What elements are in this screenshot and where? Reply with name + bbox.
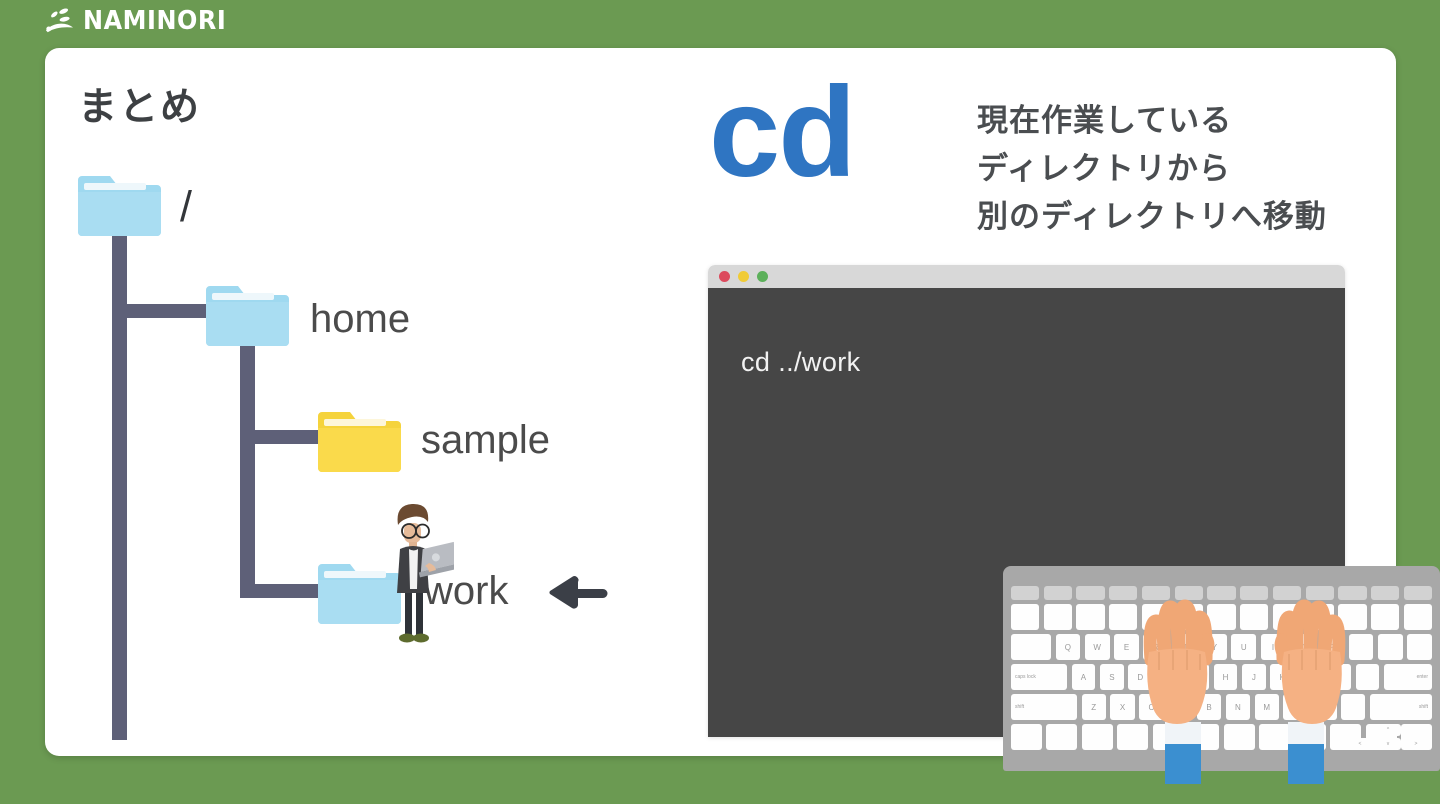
- close-button[interactable]: [719, 271, 730, 282]
- key-blank[interactable]: [1082, 724, 1113, 750]
- description-line-1: 現在作業している: [977, 97, 1397, 145]
- key-blank[interactable]: [1044, 586, 1072, 600]
- key-blank[interactable]: [1011, 724, 1042, 750]
- key-blank[interactable]: [1371, 604, 1399, 630]
- arrow-left-icon: [543, 573, 609, 611]
- command-name: cd: [709, 69, 854, 197]
- key-blank[interactable]: [1407, 634, 1432, 660]
- slide-root: NAMINORI まとめ: [0, 0, 1440, 804]
- key-blank[interactable]: [1046, 724, 1077, 750]
- folder-icon: [78, 172, 161, 236]
- key-blank[interactable]: [1404, 586, 1432, 600]
- key-s[interactable]: S: [1100, 664, 1124, 690]
- description-line-3: 別のディレクトリへ移動: [977, 193, 1397, 241]
- key-blank[interactable]: [1044, 604, 1072, 630]
- key-blank[interactable]: [1109, 604, 1137, 630]
- minimize-button[interactable]: [738, 271, 749, 282]
- folder-label-home: home: [310, 297, 410, 342]
- brand: NAMINORI: [44, 6, 239, 36]
- key-blank[interactable]: [1349, 634, 1374, 660]
- tree-stem-home: [240, 318, 255, 598]
- command-description: 現在作業している ディレクトリから 別のディレクトリへ移動: [977, 97, 1397, 241]
- key-blank[interactable]: [1011, 634, 1051, 660]
- key-caps-lock[interactable]: caps lock: [1011, 664, 1067, 690]
- key-shift[interactable]: shift: [1370, 694, 1432, 720]
- key-q[interactable]: Q: [1056, 634, 1081, 660]
- key-blank[interactable]: [1076, 604, 1104, 630]
- key-x[interactable]: X: [1110, 694, 1134, 720]
- folder-icon: [206, 282, 289, 346]
- key-z[interactable]: Z: [1082, 694, 1106, 720]
- typing-hands-icon: [1261, 594, 1346, 784]
- key-u[interactable]: U: [1231, 634, 1256, 660]
- key-blank[interactable]: [1011, 604, 1039, 630]
- description-line-2: ディレクトリから: [977, 145, 1397, 193]
- key-a[interactable]: A: [1072, 664, 1096, 690]
- key-blank[interactable]: [1224, 724, 1255, 750]
- key-w[interactable]: W: [1085, 634, 1110, 660]
- maximize-button[interactable]: [757, 271, 768, 282]
- arrow-key-3[interactable]: >: [1403, 738, 1429, 750]
- page-title: まとめ: [78, 76, 201, 132]
- keyboard[interactable]: QWERTYUIOPcaps lockASDFGHJKLentershiftZX…: [1003, 566, 1440, 771]
- folder-icon: [318, 408, 401, 472]
- key-blank[interactable]: [1404, 604, 1432, 630]
- folder-label-sample: sample: [421, 418, 550, 463]
- key-blank[interactable]: [1378, 634, 1403, 660]
- typing-hands-icon: [1143, 594, 1228, 784]
- wave-splash-icon: [44, 7, 74, 35]
- key-blank[interactable]: [1011, 586, 1039, 600]
- key-blank[interactable]: [1076, 586, 1104, 600]
- key-blank[interactable]: [1371, 586, 1399, 600]
- brand-name: NAMINORI: [83, 6, 226, 36]
- folder-root[interactable]: [78, 172, 161, 236]
- key-blank[interactable]: [1356, 664, 1380, 690]
- key-e[interactable]: E: [1114, 634, 1139, 660]
- arrow-key-2[interactable]: v: [1375, 738, 1401, 750]
- terminal-command-line: cd ../work: [741, 347, 861, 378]
- arrow-key-0[interactable]: ^: [1375, 724, 1401, 736]
- key-n[interactable]: N: [1226, 694, 1250, 720]
- person-with-laptop-icon: [372, 497, 454, 643]
- folder-home[interactable]: [206, 282, 289, 346]
- terminal-titlebar: [708, 265, 1345, 288]
- key-enter[interactable]: enter: [1384, 664, 1432, 690]
- arrow-key-1[interactable]: <: [1347, 738, 1373, 750]
- folder-sample[interactable]: [318, 408, 401, 472]
- folder-label-root: /: [180, 183, 192, 232]
- key-blank[interactable]: [1109, 586, 1137, 600]
- key-shift[interactable]: shift: [1011, 694, 1077, 720]
